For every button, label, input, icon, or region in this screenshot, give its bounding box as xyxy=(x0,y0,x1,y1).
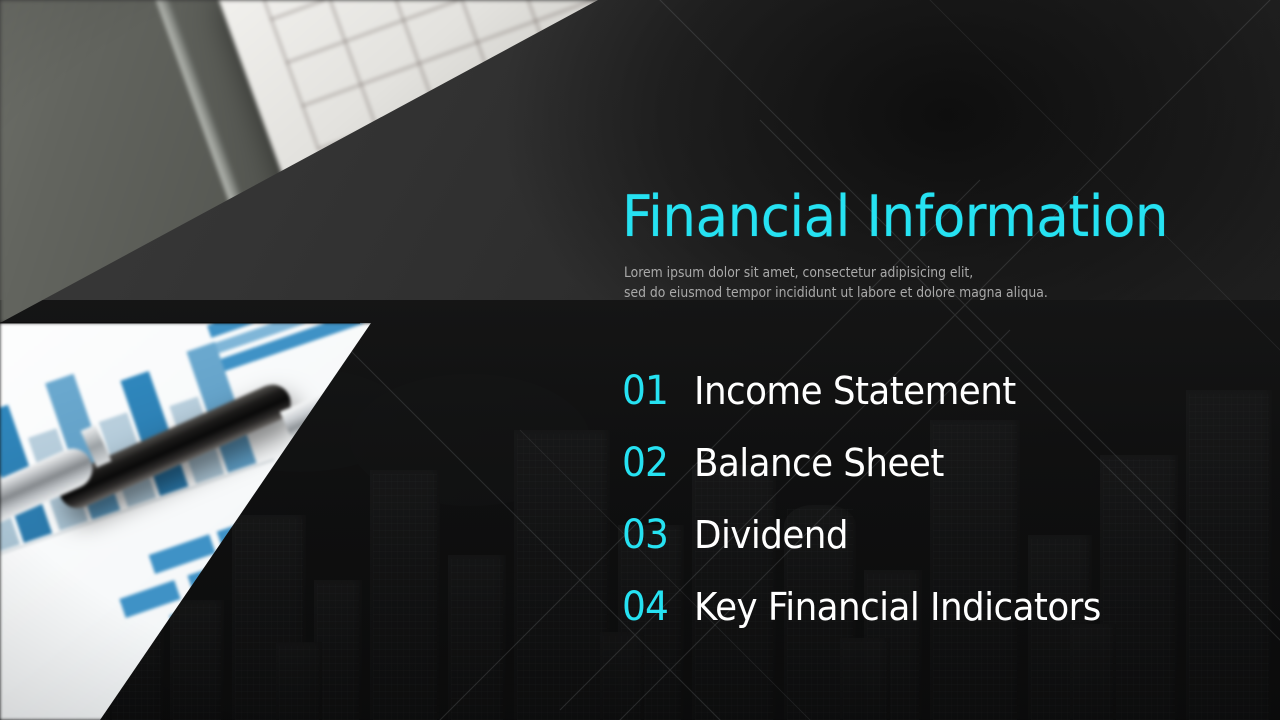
list-item[interactable]: 01 Income Statement xyxy=(622,355,1242,427)
page-title: Financial Information xyxy=(622,189,1168,246)
list-item-number: 01 xyxy=(622,371,690,411)
presentation-slide: Financial Information Lorem ipsum dolor … xyxy=(0,0,1280,720)
photo-seam-divider xyxy=(0,322,360,324)
list-item-number: 02 xyxy=(622,443,690,483)
list-item[interactable]: 02 Balance Sheet xyxy=(622,427,1242,499)
subtitle-line-1: Lorem ipsum dolor sit amet, consectetur … xyxy=(624,263,1048,283)
list-item-label: Dividend xyxy=(694,516,848,554)
list-item-number: 04 xyxy=(622,587,690,627)
subtitle-line-2: sed do eiusmod tempor incididunt ut labo… xyxy=(624,283,1048,303)
list-item[interactable]: 03 Dividend xyxy=(622,499,1242,571)
list-item-label: Balance Sheet xyxy=(694,444,944,482)
list-item-number: 03 xyxy=(622,515,690,555)
list-item-label: Income Statement xyxy=(694,372,1016,410)
agenda-list: 01 Income Statement 02 Balance Sheet 03 … xyxy=(622,355,1242,643)
subtitle-block: Lorem ipsum dolor sit amet, consectetur … xyxy=(624,263,1048,303)
slide-content: Financial Information Lorem ipsum dolor … xyxy=(622,0,1262,720)
list-item-label: Key Financial Indicators xyxy=(694,588,1101,626)
list-item[interactable]: 04 Key Financial Indicators xyxy=(622,571,1242,643)
